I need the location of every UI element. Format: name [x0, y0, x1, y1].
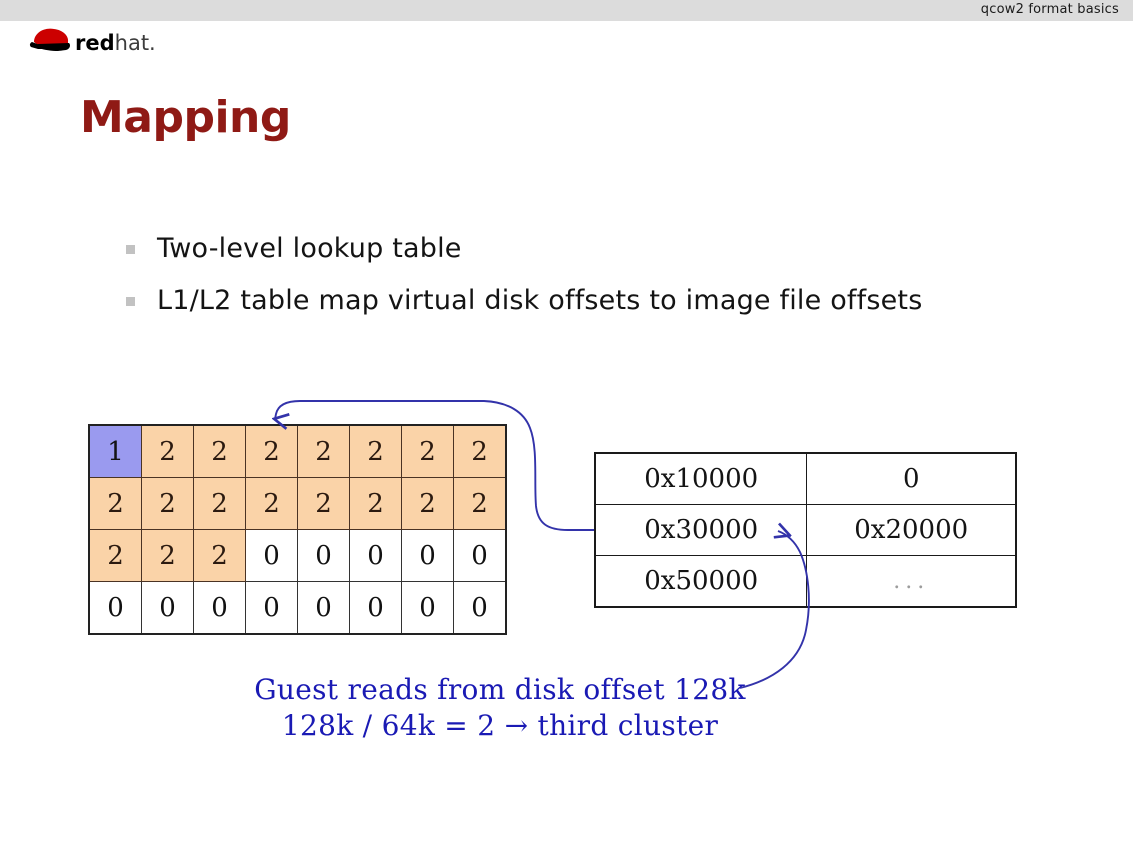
header-title: qcow2 format basics — [981, 2, 1119, 17]
caption-line-2: 128k / 64k = 2 → third cluster — [0, 708, 1000, 744]
grid-cell: 1 — [89, 425, 142, 478]
table-row: 0x10000 0 — [595, 453, 1016, 505]
grid-cell: 0 — [89, 582, 142, 635]
table-row: 0x30000 0x20000 — [595, 505, 1016, 556]
caption-line-1: Guest reads from disk offset 128k — [0, 672, 1000, 708]
grid-cell: 0 — [194, 582, 246, 635]
table-row: 1 2 2 2 2 2 2 2 — [89, 425, 506, 478]
square-bullet-icon — [126, 245, 135, 254]
mapping-target-cell: 0 — [807, 453, 1016, 505]
grid-cell: 0 — [246, 530, 298, 582]
grid-cell: 0 — [454, 582, 507, 635]
mapping-target-cell: 0x20000 — [807, 505, 1016, 556]
grid-cell: 2 — [298, 478, 350, 530]
grid-cell: 2 — [454, 425, 507, 478]
l2-offset-mapping-table: 0x10000 0 0x30000 0x20000 0x50000 ... — [594, 452, 1017, 608]
grid-cell: 0 — [402, 582, 454, 635]
grid-cell: 2 — [350, 425, 402, 478]
grid-cell: 2 — [142, 530, 194, 582]
grid-cell: 0 — [454, 530, 507, 582]
grid-cell: 0 — [298, 530, 350, 582]
mapping-offset-cell: 0x30000 — [595, 505, 807, 556]
square-bullet-icon — [126, 297, 135, 306]
grid-cell: 2 — [194, 530, 246, 582]
caption-block: Guest reads from disk offset 128k 128k /… — [0, 672, 1000, 744]
grid-cell: 2 — [454, 478, 507, 530]
list-item-label: Two-level lookup table — [157, 232, 462, 266]
grid-cell: 2 — [194, 425, 246, 478]
grid-cell: 0 — [350, 530, 402, 582]
grid-cell: 0 — [350, 582, 402, 635]
table-row: 0 0 0 0 0 0 0 0 — [89, 582, 506, 635]
table-row: 0x50000 ... — [595, 556, 1016, 608]
grid-cell: 0 — [246, 582, 298, 635]
grid-cell: 0 — [402, 530, 454, 582]
grid-cell: 0 — [142, 582, 194, 635]
grid-cell: 2 — [402, 425, 454, 478]
table-row: 2 2 2 0 0 0 0 0 — [89, 530, 506, 582]
list-item-label: L1/L2 table map virtual disk offsets to … — [157, 284, 922, 318]
grid-cell: 2 — [298, 425, 350, 478]
page-title: Mapping — [80, 92, 291, 143]
grid-cell: 2 — [89, 478, 142, 530]
mapping-offset-cell: 0x10000 — [595, 453, 807, 505]
header-bar: qcow2 format basics — [0, 0, 1133, 21]
grid-cell: 2 — [194, 478, 246, 530]
grid-cell: 0 — [298, 582, 350, 635]
shadowman-icon — [30, 29, 70, 51]
redhat-logo: redhat. — [28, 24, 198, 58]
virtual-disk-cluster-grid: 1 2 2 2 2 2 2 2 2 2 2 2 2 2 2 2 2 2 2 0 … — [88, 424, 507, 635]
grid-cell: 2 — [142, 478, 194, 530]
logo-wordmark: redhat. — [75, 31, 156, 55]
table-row: 2 2 2 2 2 2 2 2 — [89, 478, 506, 530]
grid-cell: 2 — [246, 478, 298, 530]
mapping-target-cell: ... — [807, 556, 1016, 608]
mapping-offset-cell: 0x50000 — [595, 556, 807, 608]
grid-cell: 2 — [246, 425, 298, 478]
grid-cell: 2 — [89, 530, 142, 582]
grid-cell: 2 — [350, 478, 402, 530]
grid-cell: 2 — [402, 478, 454, 530]
grid-cell: 2 — [142, 425, 194, 478]
list-item: L1/L2 table map virtual disk offsets to … — [126, 284, 1026, 320]
list-item: Two-level lookup table — [126, 232, 1026, 268]
bullet-list: Two-level lookup table L1/L2 table map v… — [126, 232, 1026, 336]
